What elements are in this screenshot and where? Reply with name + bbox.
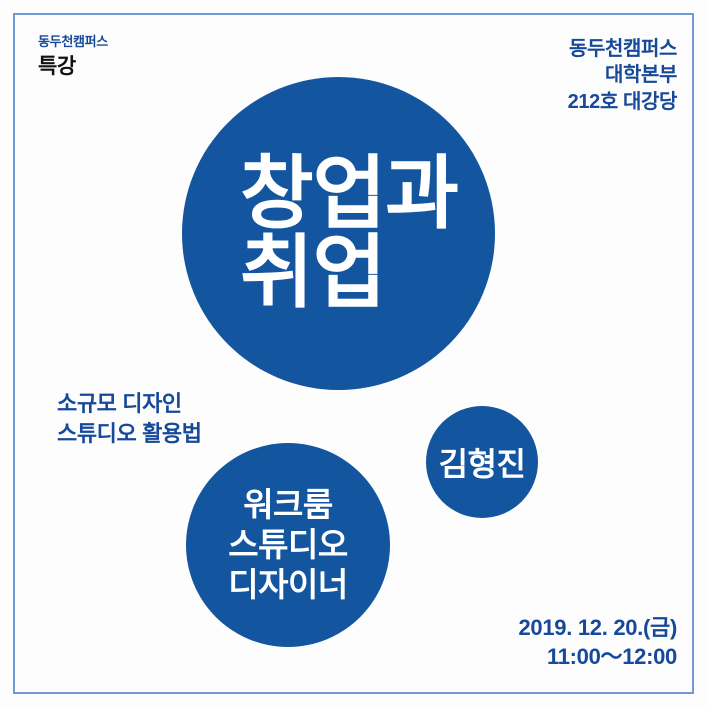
- speaker-name-text: 김형진: [439, 439, 526, 485]
- event-date: 2019. 12. 20.(금): [518, 613, 677, 642]
- campus-label: 동두천캠퍼스: [38, 34, 108, 51]
- event-time: 11:00〜12:00: [518, 642, 677, 671]
- speaker-affiliation-circle: 워크룸 스튜디오 디자이너: [186, 443, 390, 647]
- top-left-header: 동두천캠퍼스 특강: [38, 34, 108, 80]
- lecture-subject-text: 소규모 디자인 스튜디오 활용법: [57, 389, 202, 448]
- main-title-circle: 창업과 취업: [182, 77, 495, 390]
- event-datetime: 2019. 12. 20.(금) 11:00〜12:00: [518, 613, 677, 671]
- poster-canvas: 동두천캠퍼스 특강 동두천캠퍼스 대학본부 212호 대강당 창업과 취업 소규…: [0, 0, 709, 709]
- event-kind-label: 특강: [38, 54, 108, 80]
- venue-location-text: 동두천캠퍼스 대학본부 212호 대강당: [568, 36, 677, 115]
- speaker-affiliation-text: 워크룸 스튜디오 디자이너: [228, 485, 347, 606]
- speaker-name-circle: 김형진: [426, 406, 538, 518]
- main-title-text: 창업과 취업: [182, 155, 458, 312]
